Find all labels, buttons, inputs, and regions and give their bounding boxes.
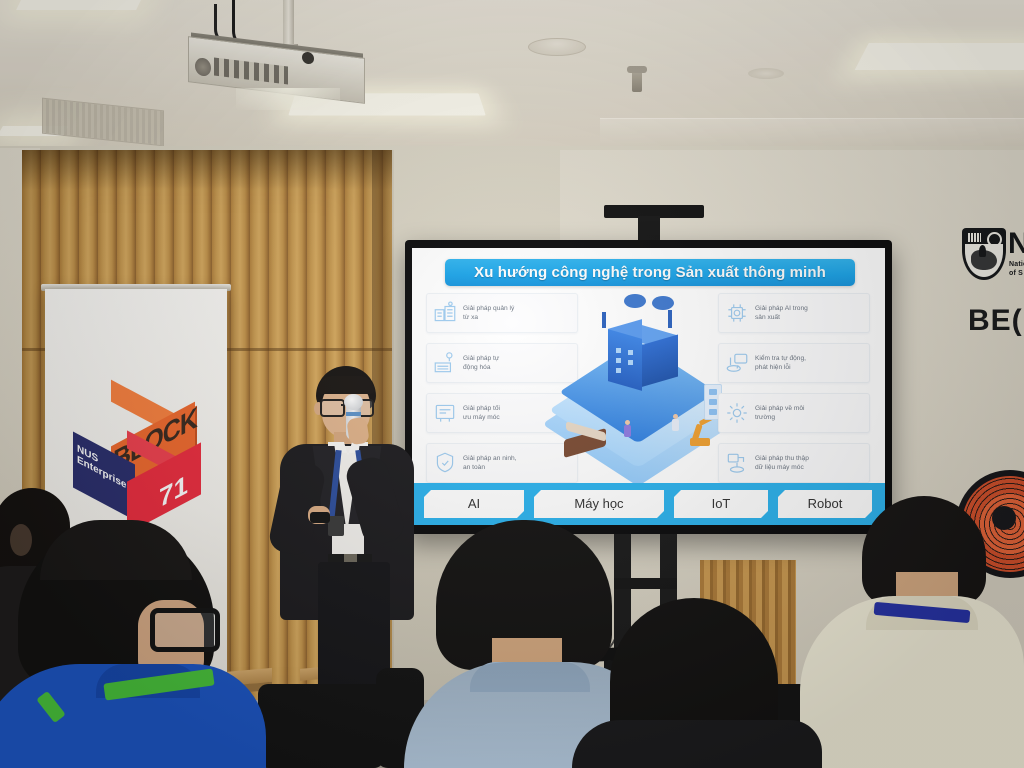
feature-card: Giải pháp tự động hóa: [426, 343, 578, 383]
ceiling-light-panel: [855, 43, 1024, 70]
automation-icon: [432, 350, 458, 376]
machine-optimization-icon: [432, 400, 458, 426]
smart-factory-illustration: [564, 288, 724, 478]
smoke-detector-icon: [528, 38, 586, 56]
feature-text: Giải pháp thu thập dữ liệu máy móc: [755, 454, 809, 472]
sprinkler-icon: [632, 70, 642, 92]
television-screen: Xu hướng công nghệ trong Sản xuất thông …: [412, 248, 885, 525]
recessed-fixture: [748, 68, 784, 79]
security-safety-icon: [432, 450, 458, 476]
presenter-right-hand: [346, 417, 369, 446]
feature-text: Kiểm tra tự động, phát hiện lỗi: [755, 354, 806, 372]
feature-card: Giải pháp quản lý từ xa: [426, 293, 578, 333]
feature-text: Giải pháp tối ưu máy móc: [463, 404, 500, 422]
ai-chip-icon: [724, 300, 750, 326]
wall-shadow: [22, 150, 392, 190]
feature-card: Kiểm tra tự động, phát hiện lỗi: [718, 343, 870, 383]
remote-management-icon: [432, 300, 458, 326]
nus-crest-icon: [962, 228, 1006, 284]
feature-text: Giải pháp quản lý từ xa: [463, 304, 514, 322]
ceiling-light-panel: [16, 0, 144, 10]
tag-iot: IoT: [674, 490, 768, 518]
slide-title-bar: Xu hướng công nghệ trong Sản xuất thông …: [445, 259, 855, 286]
data-collection-icon: [724, 450, 750, 476]
projector-glare: [236, 88, 340, 110]
microphone-head-icon: [344, 394, 363, 410]
feature-text: Giải pháp tự động hóa: [463, 354, 499, 372]
slide-title: Xu hướng công nghệ trong Sản xuất thông …: [445, 259, 855, 286]
presentation-slide: Xu hướng công nghệ trong Sản xuất thông …: [412, 248, 885, 525]
eyeglasses-icon: [150, 608, 220, 652]
robot-arm-icon: [686, 418, 712, 448]
name-badge: [328, 516, 344, 536]
tag-robot: Robot: [778, 490, 872, 518]
presentation-clicker: [310, 512, 330, 523]
worker-figure: [672, 414, 679, 436]
environment-icon: [724, 400, 750, 426]
feature-card: Giải pháp thu thập dữ liệu máy móc: [718, 443, 870, 483]
feature-card: Giải pháp AI trong sản xuất: [718, 293, 870, 333]
chair: [258, 684, 384, 768]
feature-card: Giải pháp an ninh, an toàn: [426, 443, 578, 483]
feature-text: Giải pháp về môi trường: [755, 404, 804, 422]
fan-hub: [992, 506, 1016, 530]
nus-subtitle-line-1: Natio: [1009, 261, 1024, 268]
worker-figure: [624, 420, 631, 442]
slide-left-column: Giải pháp quản lý từ xa Giải pháp tự độn…: [426, 293, 578, 493]
conference-room-photo: N Natio of S BE( BLOCK NUS Enterprise 71…: [0, 0, 1024, 768]
slide-right-column: Giải pháp AI trong sản xuất Kiểm tra tự …: [718, 293, 870, 493]
nus-wall-signage: N Natio of S BE(: [952, 228, 1024, 348]
secondary-wall-text: BE(: [968, 304, 1023, 338]
feature-card: Giải pháp về môi trường: [718, 393, 870, 433]
nus-letter: N: [1008, 229, 1024, 259]
presenter-hair-front: [318, 376, 374, 394]
nus-subtitle-line-2: of S: [1009, 270, 1023, 277]
audience-member-body: [572, 720, 822, 768]
slide-tag-bar: AI Máy học IoT Robot: [412, 483, 885, 525]
tag-machine-learning: Máy học: [534, 490, 664, 518]
microphone-band: [346, 412, 361, 416]
feature-text: Giải pháp AI trong sản xuất: [755, 304, 808, 322]
tv-stand-crossbar: [614, 578, 677, 589]
audience-ear: [10, 524, 32, 556]
feature-text: Giải pháp an ninh, an toàn: [463, 454, 517, 472]
block71-logo: BLOCK NUS Enterprise 71: [73, 404, 203, 534]
inspection-icon: [724, 350, 750, 376]
tag-ai: AI: [424, 490, 524, 518]
presenter: [262, 366, 432, 696]
